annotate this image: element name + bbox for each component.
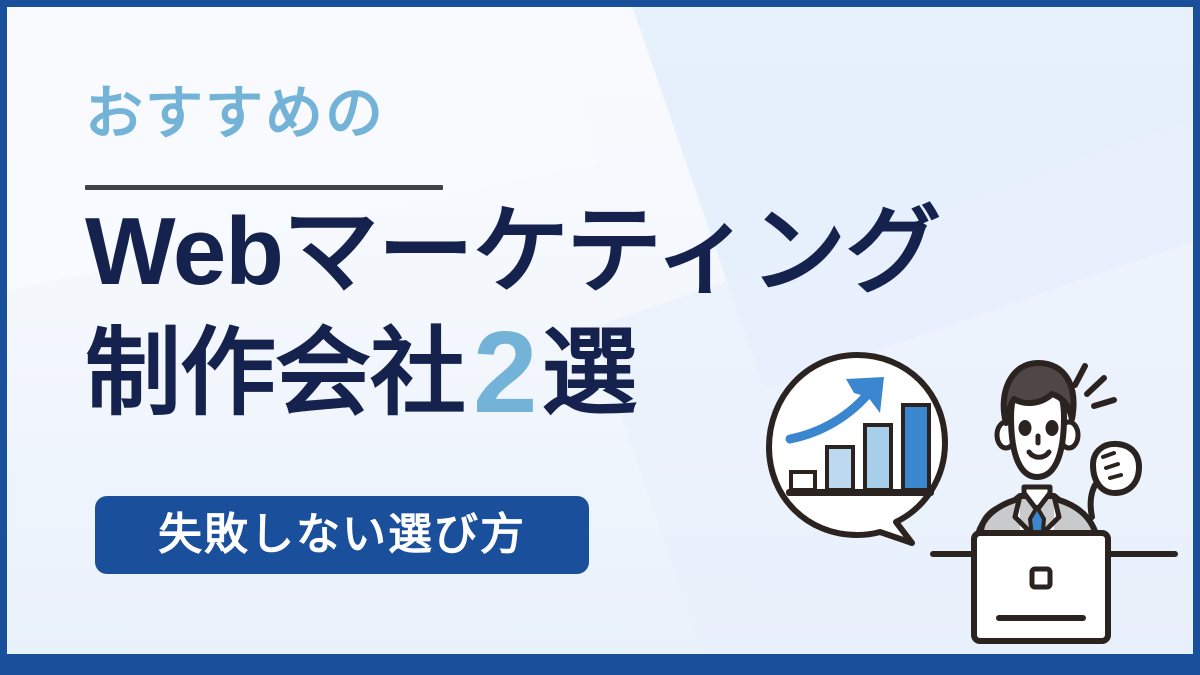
- chart-baseline: [786, 489, 934, 496]
- eye-right: [1046, 420, 1059, 436]
- headline-count-number: 2: [465, 307, 542, 437]
- illustration-group: [762, 347, 1192, 654]
- emphasis-marks-icon: [1075, 366, 1114, 406]
- growth-chart-bubble-icon: [769, 355, 945, 543]
- eyebrow-text: おすすめの: [85, 85, 385, 143]
- chart-bar-4: [903, 405, 929, 490]
- badge-label: 失敗しない選び方: [158, 513, 526, 557]
- laptop-base-line: [996, 615, 1086, 621]
- eyebrow-underline: [85, 185, 443, 190]
- banner-stage: おすすめの Webマーケティング 制作会社2選 失敗しない選び方: [0, 0, 1200, 675]
- chart-bar-2: [827, 447, 853, 490]
- eye-left: [1019, 420, 1032, 436]
- headline-line-2-prefix: 制作会社: [85, 320, 465, 427]
- laptop-rear-icon: [974, 533, 1108, 641]
- laptop-logo: [1032, 569, 1050, 587]
- status-badge: 失敗しない選び方: [95, 496, 589, 574]
- chart-bar-3: [865, 425, 891, 490]
- chart-bar-1: [791, 472, 815, 490]
- headline-line-1: Webマーケティング: [85, 203, 940, 301]
- fist-hand: [1093, 444, 1139, 493]
- headline-line-2-suffix: 選: [542, 320, 637, 427]
- businessman-illustration: [975, 363, 1139, 555]
- banner-canvas: おすすめの Webマーケティング 制作会社2選 失敗しない選び方: [7, 7, 1193, 654]
